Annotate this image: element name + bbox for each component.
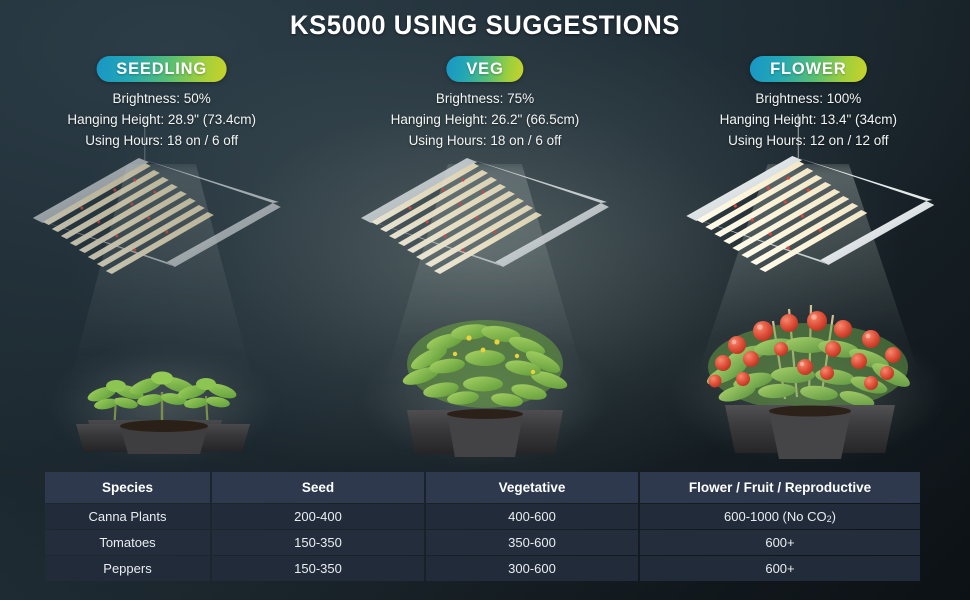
hanging-height-flower: Hanging Height: 13.4" (34cm): [647, 109, 970, 130]
brightness-veg: Brightness: 75%: [323, 88, 646, 109]
stage-specs-flower: Brightness: 100% Hanging Height: 13.4" (…: [647, 88, 970, 151]
table-row: 150-350: [212, 556, 424, 581]
table-header-seed: Seed: [212, 472, 424, 503]
infographic-canvas: KS5000 USING SUGGESTIONS SEEDLING Bright…: [0, 0, 970, 600]
table-row: 200-400: [212, 504, 424, 529]
table-column-species: Species Canna Plants Tomatoes Peppers: [45, 472, 210, 581]
stage-badge-seedling: SEEDLING: [96, 56, 227, 82]
stage-specs-seedling: Brightness: 50% Hanging Height: 28.9" (7…: [0, 88, 323, 151]
table-row: 400-600: [426, 504, 638, 529]
stage-badge-veg: VEG: [446, 56, 523, 82]
brightness-seedling: Brightness: 50%: [0, 88, 323, 109]
hanging-height-seedling: Hanging Height: 28.9" (73.4cm): [0, 109, 323, 130]
plant-group-seedling: [72, 324, 252, 454]
ppfd-recommendation-table: Species Canna Plants Tomatoes Peppers Se…: [45, 472, 920, 581]
table-header-species: Species: [45, 472, 210, 503]
table-row: 350-600: [426, 530, 638, 555]
table-row: 300-600: [426, 556, 638, 581]
hanging-height-veg: Hanging Height: 26.2" (66.5cm): [323, 109, 646, 130]
table-row: Peppers: [45, 556, 210, 581]
plant-group-veg: [385, 302, 585, 457]
using-hours-veg: Using Hours: 18 on / 6 off: [323, 130, 646, 151]
table-column-vegetative: Vegetative 400-600 350-600 300-600: [426, 472, 638, 581]
table-row: 600+: [640, 556, 920, 581]
led-fixture-seedling: [26, 150, 286, 275]
table-row: 600-1000 (No CO2): [640, 504, 920, 529]
panel-veg: VEG Brightness: 75% Hanging Height: 26.2…: [323, 52, 646, 462]
stage-badge-flower: FLOWER: [750, 56, 866, 82]
led-fixture-veg: [355, 150, 615, 275]
panel-flower: FLOWER Brightness: 100% Hanging Height: …: [647, 52, 970, 462]
growth-stage-panels: SEEDLING Brightness: 50% Hanging Height:…: [0, 52, 970, 462]
table-row: Canna Plants: [45, 504, 210, 529]
led-fixture-flower: [681, 148, 947, 276]
brightness-flower: Brightness: 100%: [647, 88, 970, 109]
table-row: 600+: [640, 530, 920, 555]
table-header-vegetative: Vegetative: [426, 472, 638, 503]
table-column-seed: Seed 200-400 150-350 150-350: [212, 472, 424, 581]
using-hours-seedling: Using Hours: 18 on / 6 off: [0, 130, 323, 151]
table-row: Tomatoes: [45, 530, 210, 555]
table-column-flower: Flower / Fruit / Reproductive 600-1000 (…: [640, 472, 920, 581]
page-title: KS5000 USING SUGGESTIONS: [24, 10, 946, 41]
plant-group-flower: [693, 287, 923, 462]
stage-specs-veg: Brightness: 75% Hanging Height: 26.2" (6…: [323, 88, 646, 151]
table-row: 150-350: [212, 530, 424, 555]
panel-seedling: SEEDLING Brightness: 50% Hanging Height:…: [0, 52, 323, 462]
table-header-flower: Flower / Fruit / Reproductive: [640, 472, 920, 503]
